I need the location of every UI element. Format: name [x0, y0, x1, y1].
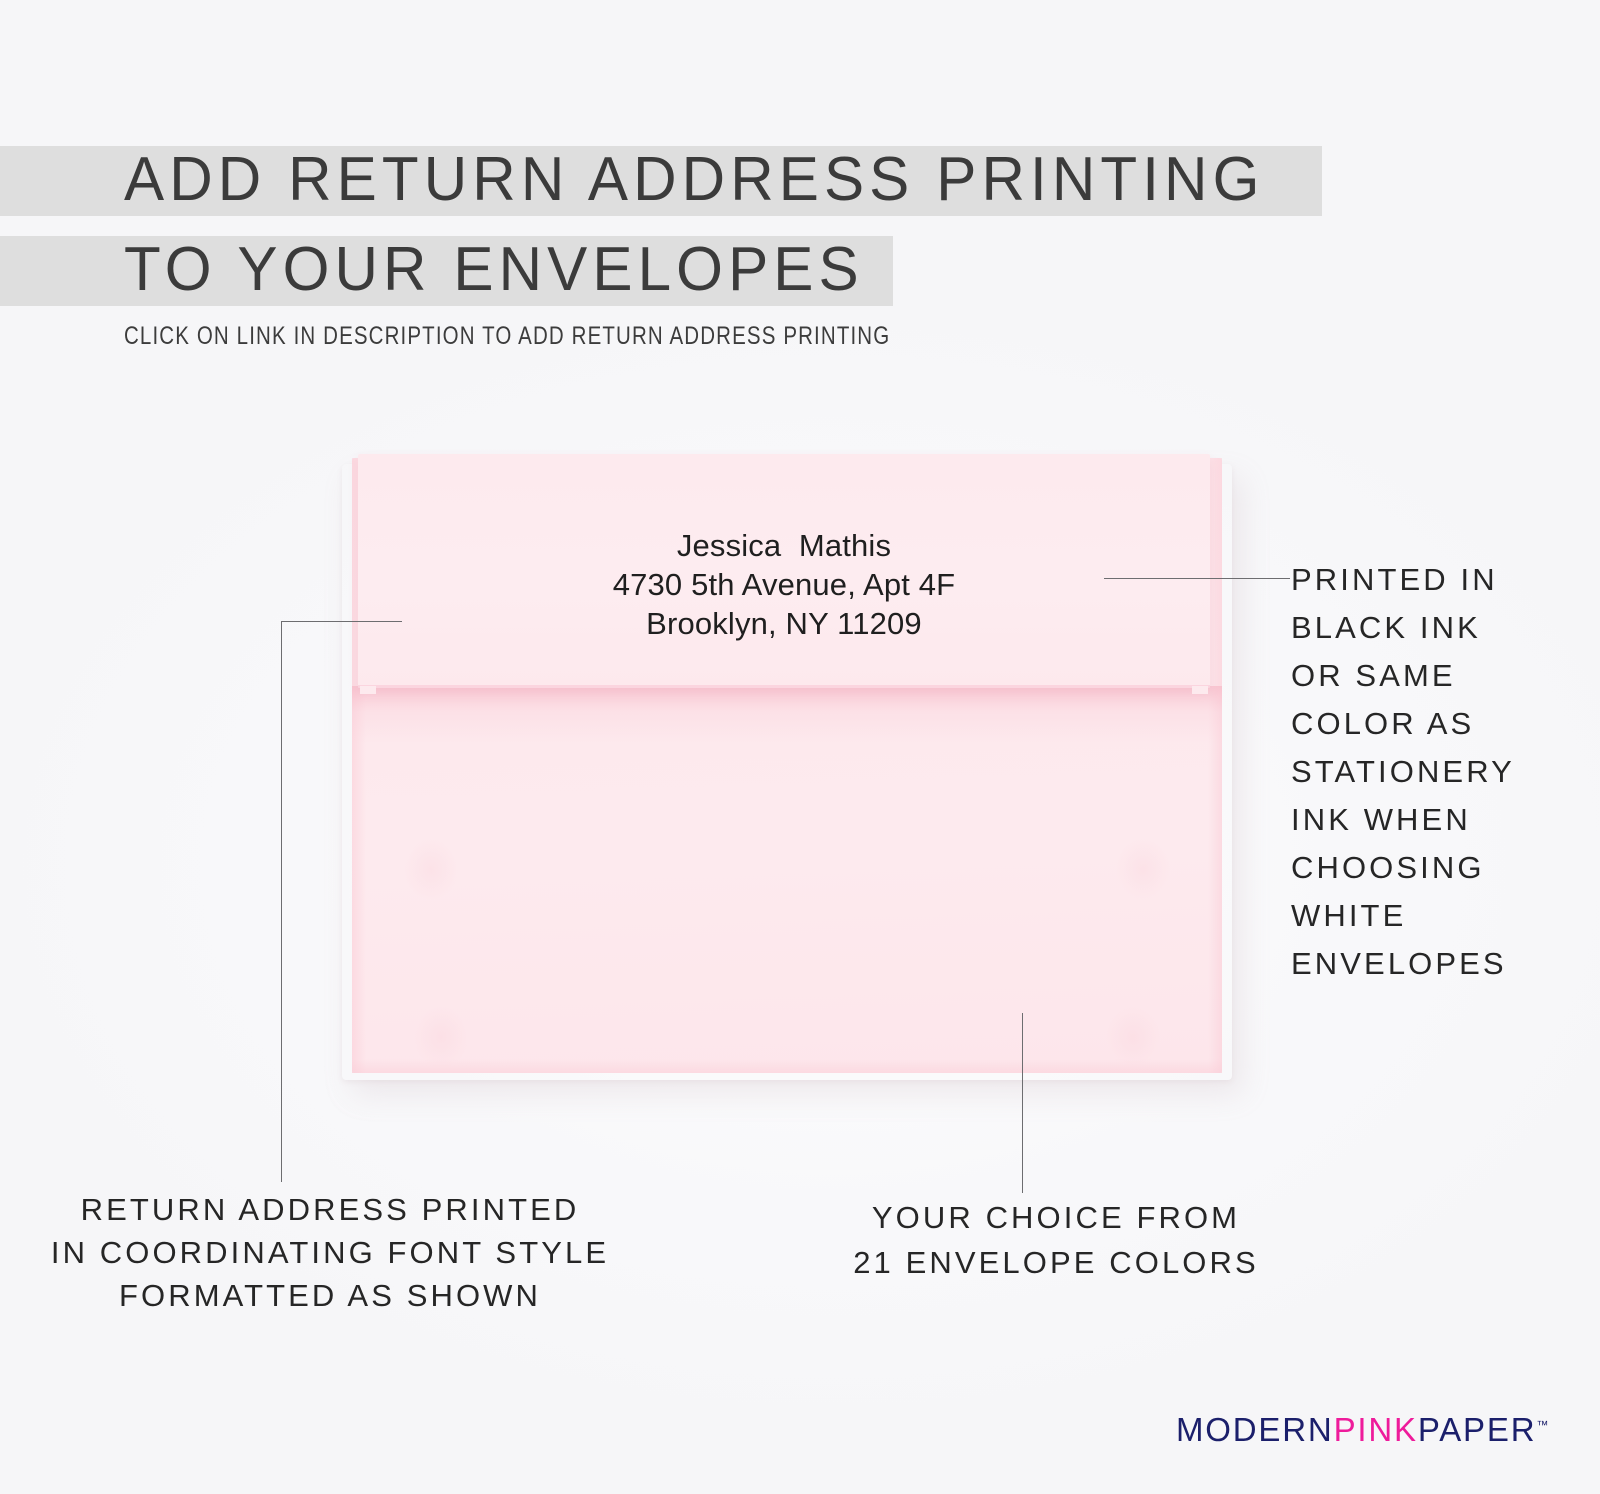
callout-envelope-colors: YOUR CHOICE FROM 21 ENVELOPE COLORS [836, 1195, 1276, 1285]
envelope: Jessica Mathis 4730 5th Avenue, Apt 4F B… [352, 458, 1222, 1073]
envelope-flap-edge [358, 685, 1210, 688]
subtitle: CLICK ON LINK IN DESCRIPTION TO ADD RETU… [124, 322, 890, 351]
callout-right-line-5: STATIONERY [1291, 748, 1571, 796]
logo-trademark-icon: ™ [1536, 1418, 1548, 1432]
callout-printed-in-black-ink: PRINTED IN BLACK INK OR SAME COLOR AS ST… [1291, 556, 1571, 988]
callout-right-line-9: ENVELOPES [1291, 940, 1571, 988]
logo-paper: PAPER [1418, 1411, 1537, 1448]
leader-line-left-horizontal [281, 621, 402, 622]
callout-right-line-2: BLACK INK [1291, 604, 1571, 652]
envelope-flap-notch-left [360, 686, 376, 694]
envelope-flap: Jessica Mathis 4730 5th Avenue, Apt 4F B… [358, 454, 1210, 688]
envelope-emboss-mark-3 [414, 1006, 468, 1068]
callout-right-line-3: OR SAME [1291, 652, 1571, 700]
leader-line-right-callout [1104, 578, 1290, 579]
page-background: ADD RETURN ADDRESS PRINTING TO YOUR ENVE… [0, 0, 1600, 1494]
return-address-line-2: 4730 5th Avenue, Apt 4F [358, 565, 1210, 604]
envelope-emboss-mark-2 [1116, 838, 1170, 900]
callout-bottom-center-line-1: YOUR CHOICE FROM [836, 1195, 1276, 1240]
callout-bottom-left-line-3: FORMATTED AS SHOWN [20, 1274, 640, 1317]
callout-return-address-printed: RETURN ADDRESS PRINTED IN COORDINATING F… [20, 1188, 640, 1317]
callout-right-line-7: CHOOSING [1291, 844, 1571, 892]
leader-line-left-vertical [281, 621, 282, 1182]
envelope-seam-bottom [352, 1059, 1222, 1073]
callout-right-line-8: WHITE [1291, 892, 1571, 940]
headline-line-2: TO YOUR ENVELOPES [124, 234, 864, 306]
envelope-flap-notch-right [1192, 686, 1208, 694]
callout-right-line-6: INK WHEN [1291, 796, 1571, 844]
logo-pink: PINK [1334, 1411, 1418, 1448]
logo-modern: MODERN [1176, 1411, 1334, 1448]
callout-bottom-left-line-2: IN COORDINATING FONT STYLE [20, 1231, 640, 1274]
envelope-return-address: Jessica Mathis 4730 5th Avenue, Apt 4F B… [358, 526, 1210, 643]
callout-bottom-center-line-2: 21 ENVELOPE COLORS [836, 1240, 1276, 1285]
brand-logo: MODERNPINKPAPER™ [1176, 1411, 1548, 1449]
envelope-flap-shadow [352, 686, 1222, 744]
callout-right-line-1: PRINTED IN [1291, 556, 1571, 604]
envelope-emboss-mark-4 [1106, 1006, 1160, 1068]
return-address-line-1: Jessica Mathis [358, 526, 1210, 565]
callout-bottom-left-line-1: RETURN ADDRESS PRINTED [20, 1188, 640, 1231]
return-address-line-3: Brooklyn, NY 11209 [358, 604, 1210, 643]
envelope-body: Jessica Mathis 4730 5th Avenue, Apt 4F B… [352, 458, 1222, 1073]
callout-right-line-4: COLOR AS [1291, 700, 1571, 748]
envelope-seam-right [1208, 458, 1222, 1073]
leader-line-center-vertical [1022, 1013, 1023, 1193]
headline-line-1: ADD RETURN ADDRESS PRINTING [124, 144, 1264, 216]
envelope-emboss-mark-1 [404, 838, 458, 900]
